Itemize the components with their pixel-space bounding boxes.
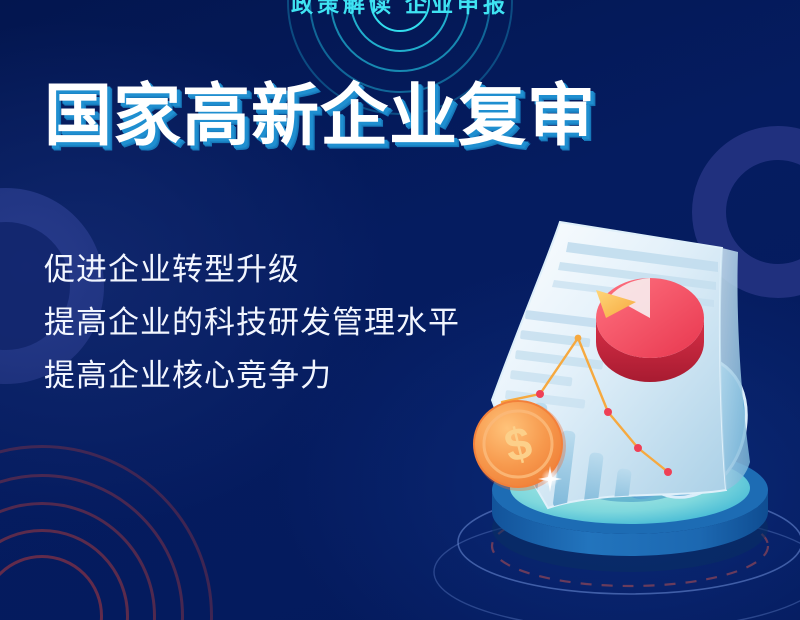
subtitle-line-1: 促进企业转型升级 <box>44 243 460 296</box>
subtitle-list: 促进企业转型升级 提高企业的科技研发管理水平 提高企业核心竞争力 <box>44 243 460 402</box>
illustration-report-document-on-podium: $ <box>430 190 800 620</box>
gold-coin: $ <box>474 401 566 492</box>
page-title: 国家高新企业复审 <box>44 82 596 150</box>
pie-chart <box>596 278 704 382</box>
top-caption: 政策解读 企业申报 <box>291 0 509 19</box>
subtitle-line-3: 提高企业核心竞争力 <box>44 349 460 402</box>
poster-canvas: 政策解读 企业申报 国家高新企业复审 促进企业转型升级 提高企业的科技研发管理水… <box>0 0 800 620</box>
subtitle-line-2: 提高企业的科技研发管理水平 <box>44 296 460 349</box>
